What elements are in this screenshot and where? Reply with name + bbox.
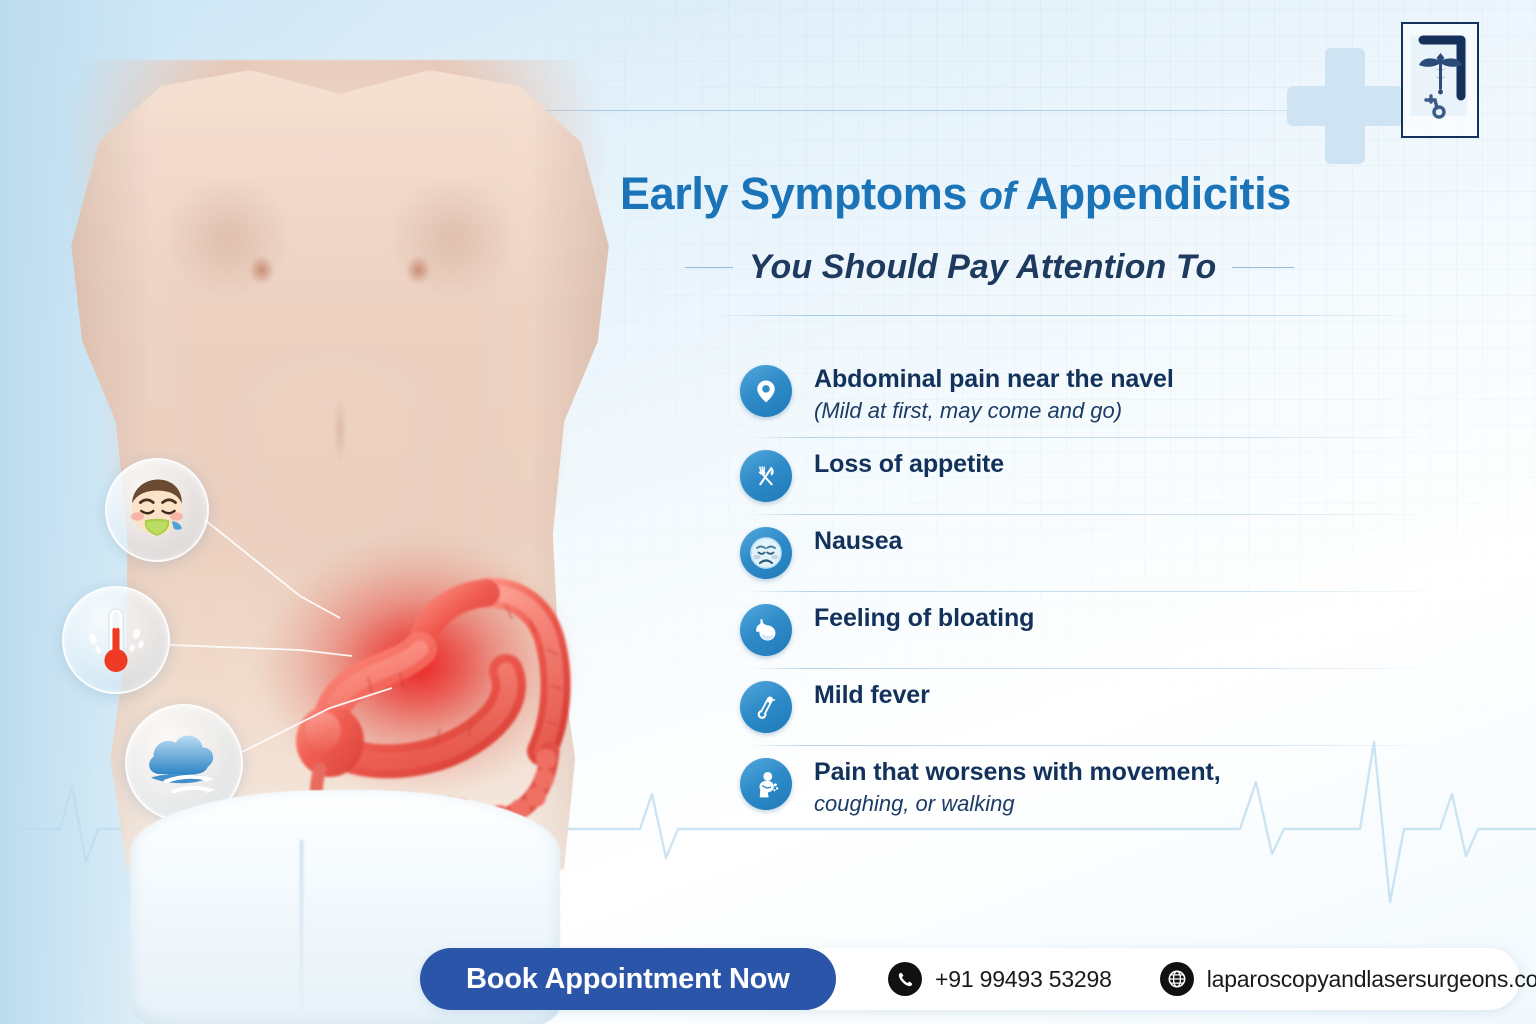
shorts-fold: [300, 840, 303, 1020]
website-url[interactable]: laparoscopyandlasersurgeons.com: [1207, 966, 1536, 993]
phone-number[interactable]: +91 99493 53298: [935, 966, 1112, 993]
subtitle-rule-left: [685, 267, 733, 268]
list-item: Pain that worsens with movement, coughin…: [740, 745, 1530, 830]
symptom-note: coughing, or walking: [814, 790, 1221, 819]
title-of: of: [979, 175, 1015, 218]
thermometer-sweat-icon: [76, 600, 156, 680]
footer-bar: Book Appointment Now +91 99493 53298 lap…: [420, 948, 1520, 1010]
title-part-1: Early Symptoms: [620, 168, 967, 219]
poster-canvas: Early Symptoms of Appendicitis You Shoul…: [0, 0, 1536, 1024]
page-subtitle: You Should Pay Attention To: [749, 248, 1216, 287]
symptom-text: Feeling of bloating: [814, 602, 1034, 634]
phone-icon[interactable]: [888, 962, 922, 996]
symptom-title: Nausea: [814, 527, 902, 557]
list-item: Loss of appetite: [740, 437, 1530, 514]
symptom-text: Loss of appetite: [814, 448, 1004, 480]
vomiting-face-icon: [120, 473, 194, 547]
fever-thermometer-callout: [62, 586, 170, 694]
contact-info: +91 99493 53298 laparoscopyandlasersurge…: [888, 948, 1536, 1010]
vomiting-face-callout: [105, 458, 209, 562]
thermometer-icon: [740, 681, 792, 733]
symptom-title: Pain that worsens with movement,: [814, 758, 1221, 788]
person-in-pain-icon: [740, 758, 792, 810]
symptom-text: Abdominal pain near the navel (Mild at f…: [814, 363, 1174, 425]
book-appointment-button[interactable]: Book Appointment Now: [420, 948, 836, 1010]
cloud-wind-icon: [138, 717, 230, 809]
subtitle-row: You Should Pay Attention To: [685, 248, 1385, 287]
location-pin-icon: [740, 365, 792, 417]
subtitle-rule-right: [1232, 267, 1294, 268]
symptom-text: Pain that worsens with movement, coughin…: [814, 756, 1221, 818]
list-item: Nausea: [740, 514, 1530, 591]
list-item: Feeling of bloating: [740, 591, 1530, 668]
stomach-icon: [740, 604, 792, 656]
symptom-note: (Mild at first, may come and go): [814, 397, 1174, 426]
content-panel: Early Symptoms of Appendicitis You Shoul…: [610, 0, 1536, 1024]
content-top-divider: [710, 315, 1430, 316]
symptom-title: Feeling of bloating: [814, 604, 1034, 634]
nauseous-face-icon: [740, 527, 792, 579]
symptom-text: Nausea: [814, 525, 902, 557]
symptom-title: Mild fever: [814, 681, 930, 711]
page-title: Early Symptoms of Appendicitis: [620, 168, 1380, 220]
list-item: Mild fever: [740, 668, 1530, 745]
fork-knife-icon: [740, 450, 792, 502]
title-part-2: Appendicitis: [1026, 168, 1291, 219]
symptom-title: Abdominal pain near the navel: [814, 365, 1174, 395]
globe-icon[interactable]: [1160, 962, 1194, 996]
patient-illustration: [0, 0, 700, 1024]
symptoms-list: Abdominal pain near the navel (Mild at f…: [740, 352, 1530, 830]
symptom-text: Mild fever: [814, 679, 930, 711]
list-item: Abdominal pain near the navel (Mild at f…: [740, 352, 1530, 437]
symptom-title: Loss of appetite: [814, 450, 1004, 480]
